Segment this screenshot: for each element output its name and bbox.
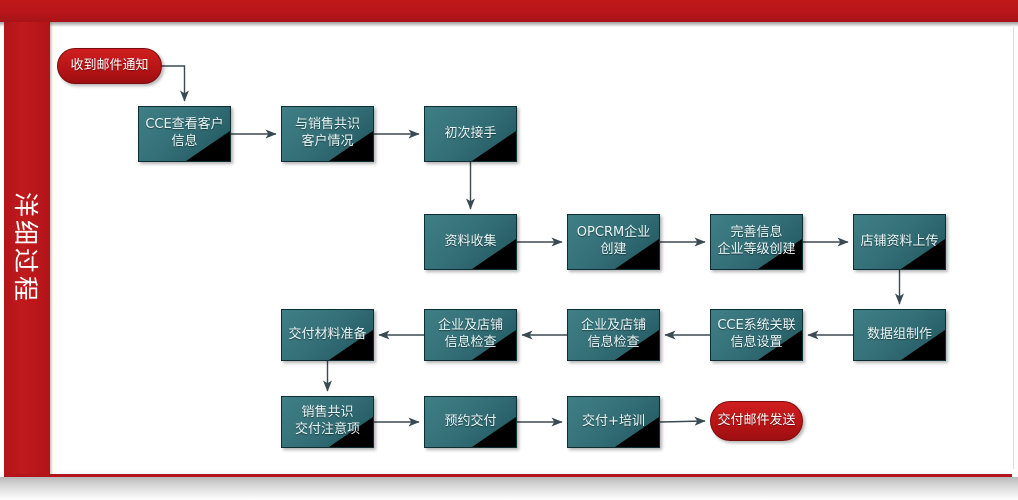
slide-canvas: 洋细过程 收到邮件通知CCE查看客户 信息与销售共识 客户情况初次接手资料收集O… — [0, 0, 1018, 500]
flow-node-n17[interactable]: 交付邮件发送 — [710, 401, 803, 441]
left-red-sidebar — [4, 22, 50, 474]
bottom-gray-strip — [0, 477, 1018, 500]
flow-node-label: CCE系统关联 信息设置 — [717, 318, 795, 352]
flow-node-n3[interactable]: 与销售共识 客户情况 — [281, 106, 374, 162]
flow-node-label: 与销售共识 客户情况 — [295, 117, 360, 151]
flow-node-label: 销售共识 交付注意项 — [295, 405, 360, 439]
flow-node-label: CCE查看客户 信息 — [145, 117, 223, 151]
flow-node-label: 企业及店铺 信息检查 — [438, 318, 503, 352]
flow-node-n5[interactable]: 资料收集 — [424, 214, 517, 270]
flow-node-n2[interactable]: CCE查看客户 信息 — [138, 106, 231, 162]
flow-node-n6[interactable]: OPCRM企业 创建 — [567, 214, 660, 270]
top-red-bar — [0, 0, 1018, 22]
flow-node-label: 完善信息 企业等级创建 — [717, 225, 795, 259]
flow-node-n9[interactable]: 数据组制作 — [853, 309, 946, 361]
flow-node-label: 企业及店铺 信息检查 — [581, 318, 646, 352]
flow-node-n14[interactable]: 销售共识 交付注意项 — [281, 396, 374, 448]
flow-node-label: 交付邮件发送 — [717, 413, 795, 430]
flow-node-label: 交付材料准备 — [288, 327, 366, 344]
flow-node-n8[interactable]: 店铺资料上传 — [853, 214, 946, 270]
flow-node-n16[interactable]: 交付+培训 — [567, 396, 660, 448]
flow-node-n12[interactable]: 企业及店铺 信息检查 — [424, 309, 517, 361]
flow-node-label: 数据组制作 — [867, 327, 932, 344]
flow-node-label: 店铺资料上传 — [860, 234, 938, 251]
flow-node-label: 交付+培训 — [582, 414, 645, 431]
left-sidebar-edge-shadow — [50, 22, 53, 474]
flow-node-n15[interactable]: 预约交付 — [424, 396, 517, 448]
flow-node-n13[interactable]: 交付材料准备 — [281, 309, 374, 361]
flow-node-n11[interactable]: 企业及店铺 信息检查 — [567, 309, 660, 361]
flow-node-label: 收到邮件通知 — [70, 58, 148, 75]
flow-node-label: 资料收集 — [444, 234, 496, 251]
flow-node-label: 初次接手 — [444, 126, 496, 143]
flow-node-n4[interactable]: 初次接手 — [424, 106, 517, 162]
flow-node-label: OPCRM企业 创建 — [577, 225, 650, 259]
flow-node-label: 预约交付 — [444, 414, 496, 431]
flow-node-n7[interactable]: 完善信息 企业等级创建 — [710, 214, 803, 270]
flow-node-n1[interactable]: 收到邮件通知 — [57, 48, 162, 84]
flow-node-n10[interactable]: CCE系统关联 信息设置 — [710, 309, 803, 361]
